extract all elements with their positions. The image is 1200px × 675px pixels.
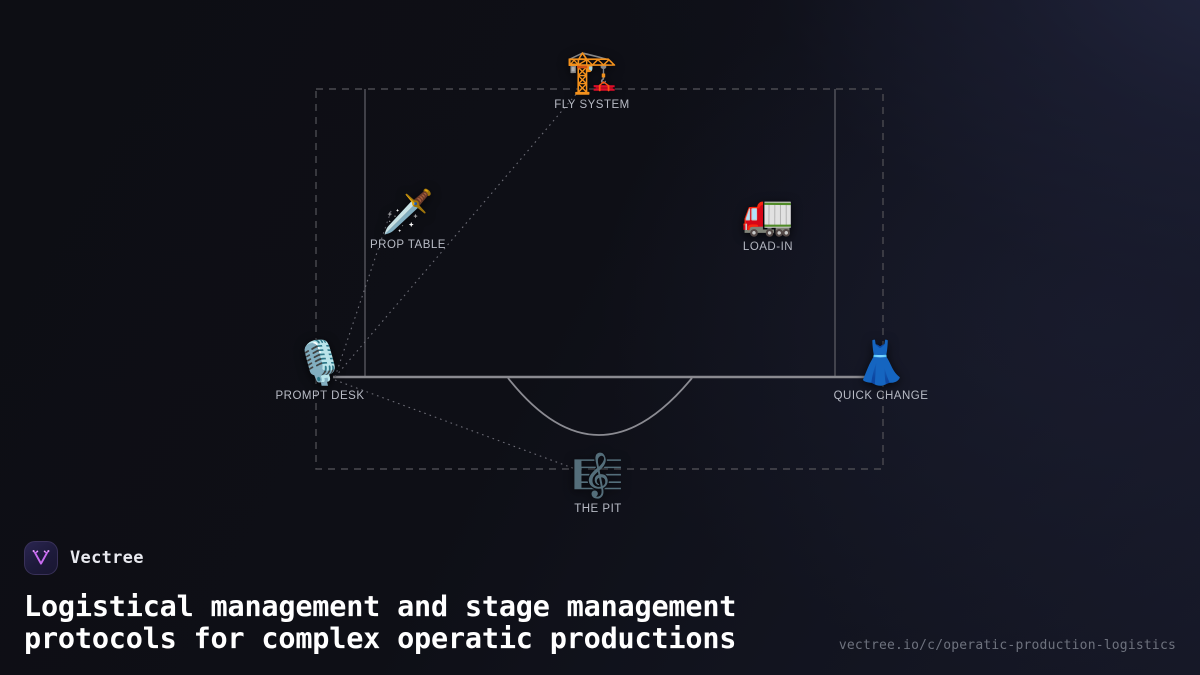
stage-node-the-pit[interactable]: 🎼 THE PIT [513,453,683,515]
page-title: Logistical management and stage manageme… [24,591,784,655]
stage-node-prompt-desk[interactable]: 🎙️ PROMPT DESK [235,340,405,402]
stage-boundary-dashed [316,89,883,469]
stage-node-label: LOAD-IN [743,241,793,253]
orchestra-pit-arc [508,378,692,435]
studio-microphone-icon: 🎙️ [294,340,346,386]
brand-name: Vectree [70,548,144,568]
stage-diagram: 🏗️ FLY SYSTEM 🗡️ PROP TABLE 🚛 LOAD-IN 🎙️… [0,0,1200,545]
vectree-logo-glyph [31,548,51,568]
stage-node-prop-table[interactable]: 🗡️ PROP TABLE [323,189,493,251]
vectree-tree-logo-icon [24,541,58,575]
stage-node-fly-system[interactable]: 🏗️ FLY SYSTEM [507,49,677,111]
articulated-lorry-icon: 🚛 [742,191,794,237]
stage-node-label: PROP TABLE [370,239,446,251]
dagger-icon: 🗡️ [382,189,434,235]
stage-node-label: PROMPT DESK [276,390,365,402]
footer: Vectree Logistical management and stage … [0,541,1200,675]
stage-node-quick-change[interactable]: 👗 QUICK CHANGE [796,340,966,402]
construction-crane-icon: 🏗️ [566,49,618,95]
stage-node-label: FLY SYSTEM [554,99,630,111]
stage-node-label: THE PIT [574,503,622,515]
stage-node-load-in[interactable]: 🚛 LOAD-IN [683,191,853,253]
stage-node-label: QUICK CHANGE [834,390,929,402]
source-url: vectree.io/c/operatic-production-logisti… [839,638,1176,653]
musical-score-icon: 🎼 [572,453,624,499]
dress-icon: 👗 [855,340,907,386]
brand: Vectree [24,541,1176,575]
